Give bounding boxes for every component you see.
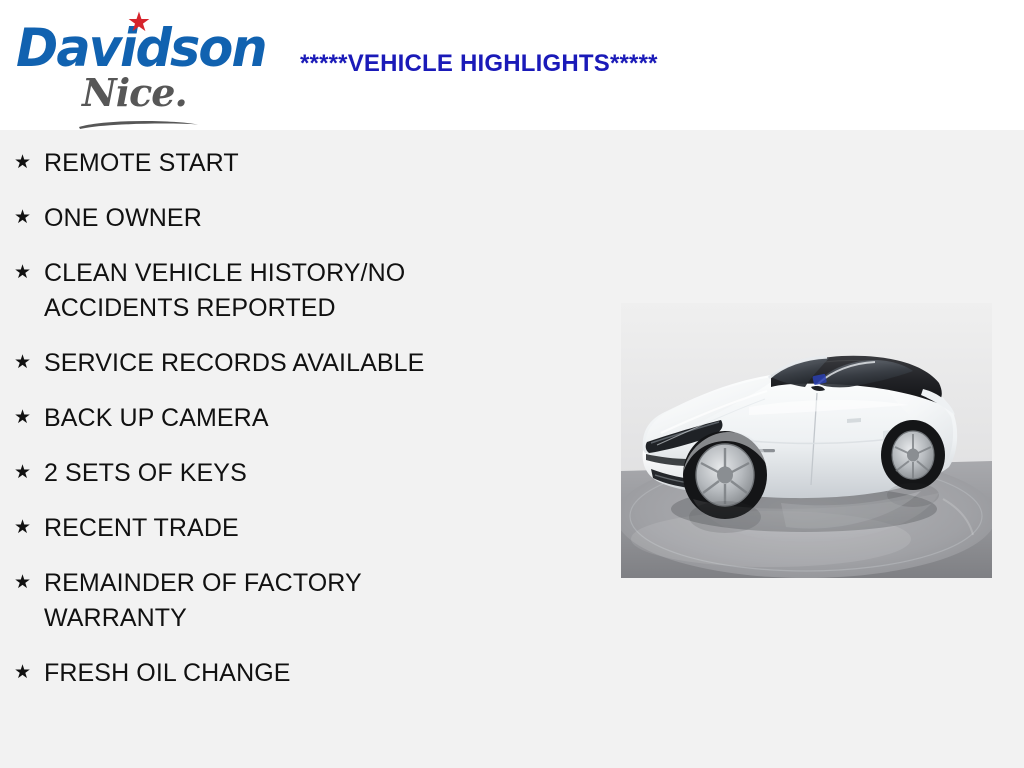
list-item-label: REMAINDER OF FACTORY WARRANTY (44, 566, 494, 636)
star-bullet-icon: ★ (14, 511, 44, 543)
dealership-logo[interactable]: Davidson ★ Nice. (14, 8, 274, 123)
list-item: ★ SERVICE RECORDS AVAILABLE (0, 346, 600, 381)
list-item-label: SERVICE RECORDS AVAILABLE (44, 346, 494, 381)
list-item: ★ RECENT TRADE (0, 511, 600, 546)
logo-underline-swoosh (78, 118, 200, 130)
star-bullet-icon: ★ (14, 566, 44, 598)
vehicle-photo[interactable] (621, 303, 992, 578)
star-bullet-icon: ★ (14, 201, 44, 233)
list-item: ★ FRESH OIL CHANGE (0, 656, 600, 691)
star-bullet-icon: ★ (14, 256, 44, 288)
list-item: ★ BACK UP CAMERA (0, 401, 600, 436)
list-item-label: CLEAN VEHICLE HISTORY/NO ACCIDENTS REPOR… (44, 256, 494, 326)
list-item: ★ 2 SETS OF KEYS (0, 456, 600, 491)
star-bullet-icon: ★ (14, 146, 44, 178)
star-bullet-icon: ★ (14, 656, 44, 688)
list-item-label: FRESH OIL CHANGE (44, 656, 494, 691)
star-bullet-icon: ★ (14, 346, 44, 378)
star-bullet-icon: ★ (14, 456, 44, 488)
page-header: Davidson ★ Nice. *****VEHICLE HIGHLIGHTS… (0, 0, 1024, 130)
vehicle-highlights-list: ★ REMOTE START ★ ONE OWNER ★ CLEAN VEHIC… (0, 130, 600, 711)
list-item-label: 2 SETS OF KEYS (44, 456, 494, 491)
list-item: ★ ONE OWNER (0, 201, 600, 236)
logo-brand-secondary: Nice. (82, 74, 187, 112)
list-item: ★ REMAINDER OF FACTORY WARRANTY (0, 566, 600, 636)
page-title: *****VEHICLE HIGHLIGHTS***** (300, 50, 1000, 78)
logo-star-icon: ★ (126, 9, 152, 35)
vehicle-highlights-page: Davidson ★ Nice. *****VEHICLE HIGHLIGHTS… (0, 0, 1024, 768)
rear-wheel (881, 420, 945, 490)
list-item-label: RECENT TRADE (44, 511, 494, 546)
list-item-label: ONE OWNER (44, 201, 494, 236)
star-bullet-icon: ★ (14, 401, 44, 433)
list-item-label: REMOTE START (44, 146, 494, 181)
list-item-label: BACK UP CAMERA (44, 401, 494, 436)
vehicle-photo-illustration (621, 303, 992, 578)
list-item: ★ CLEAN VEHICLE HISTORY/NO ACCIDENTS REP… (0, 256, 600, 326)
list-item: ★ REMOTE START (0, 146, 600, 181)
